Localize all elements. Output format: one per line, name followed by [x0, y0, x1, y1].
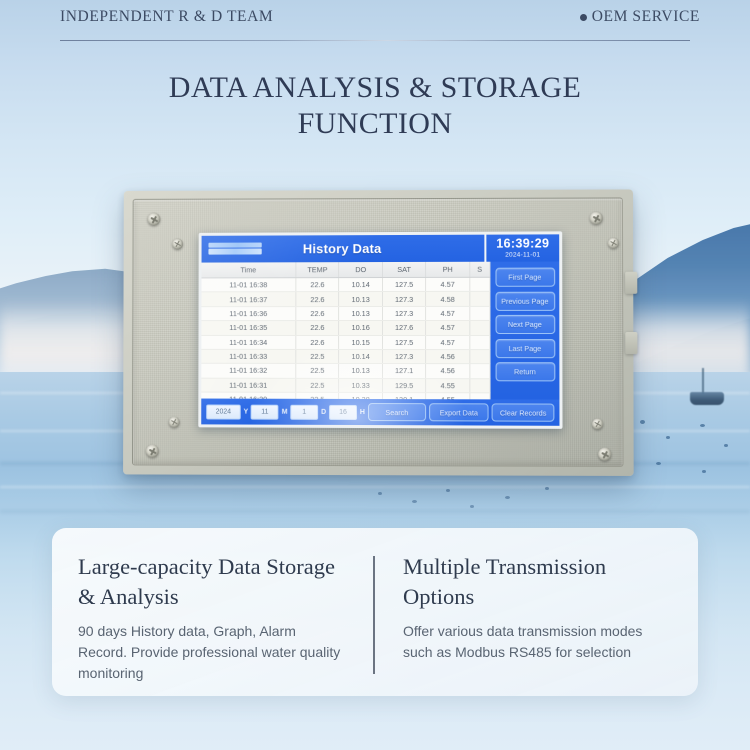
screw-icon	[147, 213, 160, 226]
search-button[interactable]: Search	[368, 403, 426, 421]
table-cell: 22.5	[296, 378, 339, 392]
history-data-table: TimeTEMPDOSATPHS 11-01 16:3822.610.14127…	[201, 262, 490, 400]
table-column-header: SAT	[382, 262, 425, 278]
table-cell: 10.15	[339, 335, 382, 349]
table-header-row: TimeTEMPDOSATPHS	[202, 262, 490, 278]
table-cell: 10.13	[339, 292, 382, 306]
table-column-header: TEMP	[296, 262, 339, 278]
bird-icon	[666, 436, 670, 439]
header-divider	[60, 40, 690, 41]
table-cell: 11-01 16:36	[201, 306, 295, 320]
table-cell: 4.57	[426, 277, 470, 291]
page-title-line1: DATA ANALYSIS & STORAGE	[0, 70, 750, 106]
hour-input[interactable]: 16	[329, 404, 357, 419]
boat-icon	[690, 392, 724, 405]
clock-time: 16:39:29	[496, 237, 549, 250]
table-column-header: DO	[339, 262, 382, 278]
feature-card-transmission: Multiple Transmission Options Offer vari…	[375, 528, 698, 696]
table-cell: 4.57	[426, 306, 470, 320]
day-unit-label: D	[321, 408, 326, 415]
table-cell	[470, 378, 490, 392]
table-cell: 4.58	[426, 292, 470, 306]
table-cell	[470, 335, 490, 349]
history-table-wrapper[interactable]: TimeTEMPDOSATPHS 11-01 16:3822.610.14127…	[201, 262, 490, 400]
lcd-screen: History Data 16:39:29 2024-11-01 TimeTEM…	[198, 231, 562, 429]
month-unit-label: M	[282, 408, 288, 415]
table-cell: 127.5	[382, 277, 425, 291]
table-cell: 11-01 16:37	[201, 292, 295, 306]
page-header: INDEPENDENT R & D TEAM OEM SERVICE	[0, 0, 750, 48]
table-cell: 4.57	[426, 335, 470, 349]
year-unit-label: Y	[244, 408, 249, 415]
nav-button-last-page[interactable]: Last Page	[495, 339, 555, 358]
table-row[interactable]: 11-01 16:3522.610.16127.64.57	[201, 321, 490, 335]
hour-unit-label: H	[360, 408, 365, 415]
screw-icon	[172, 238, 183, 249]
table-cell: 4.57	[426, 321, 470, 335]
lumineers-brand-logo	[208, 241, 261, 257]
page-title-line2: FUNCTION	[0, 106, 750, 142]
table-cell: 11-01 16:31	[201, 378, 296, 393]
feature-card-title: Large-capacity Data Storage & Analysis	[78, 552, 347, 612]
lcd-title-bar: History Data	[202, 235, 487, 263]
feature-card-title: Multiple Transmission Options	[403, 552, 672, 612]
side-connector-tab	[625, 332, 637, 354]
table-row[interactable]: 11-01 16:3822.610.14127.54.57	[201, 277, 489, 292]
lcd-clock: 16:39:29 2024-11-01	[486, 234, 559, 261]
screw-icon	[590, 212, 603, 225]
table-cell	[470, 306, 490, 320]
table-cell: 10.16	[339, 321, 382, 335]
table-cell: 127.6	[382, 321, 426, 335]
table-cell: 4.55	[426, 378, 470, 393]
screw-icon	[598, 448, 611, 461]
table-cell: 4.56	[426, 364, 470, 379]
table-column-header: Time	[202, 262, 296, 278]
bird-icon	[640, 420, 645, 424]
table-cell: 4.56	[426, 349, 470, 363]
boat-mast	[702, 368, 704, 394]
table-cell: 11-01 16:34	[201, 335, 295, 349]
bird-icon	[700, 424, 705, 427]
table-cell: 10.33	[339, 378, 382, 392]
table-cell	[470, 349, 490, 363]
screw-icon	[592, 418, 603, 429]
feature-card-body: Offer various data transmission modes su…	[403, 621, 672, 663]
table-column-header: PH	[426, 262, 470, 278]
screw-icon	[608, 238, 619, 249]
feature-card-body: 90 days History data, Graph, Alarm Recor…	[78, 621, 347, 684]
year-input[interactable]: 2024	[206, 404, 240, 419]
lcd-body: TimeTEMPDOSATPHS 11-01 16:3822.610.14127…	[201, 262, 559, 400]
table-cell	[470, 292, 490, 306]
table-row[interactable]: 11-01 16:3422.610.15127.54.57	[201, 335, 490, 349]
screw-icon	[146, 445, 159, 458]
table-row[interactable]: 11-01 16:3122.510.33129.54.55	[201, 378, 490, 393]
table-cell: 22.6	[296, 321, 339, 335]
table-cell: 10.13	[339, 364, 382, 378]
clock-date: 2024-11-01	[505, 250, 540, 259]
bullet-dot-icon	[580, 14, 587, 21]
bird-icon	[656, 462, 661, 465]
lcd-toolbar: 2024 Y 11 M 1 D 16 H Search Export Data …	[201, 399, 559, 426]
feature-cards-panel: Large-capacity Data Storage & Analysis 9…	[52, 528, 698, 696]
table-row[interactable]: 11-01 16:3722.610.13127.34.58	[201, 292, 490, 307]
table-cell: 22.6	[296, 335, 339, 349]
table-cell: 127.3	[382, 292, 425, 306]
table-row[interactable]: 11-01 16:3322.510.14127.34.56	[201, 349, 490, 364]
month-input[interactable]: 11	[251, 404, 279, 419]
table-cell: 22.6	[296, 306, 339, 320]
nav-button-first-page[interactable]: First Page	[495, 268, 555, 287]
table-cell: 10.13	[339, 306, 382, 320]
table-cell: 10.14	[339, 349, 382, 363]
nav-button-return[interactable]: Return	[495, 362, 555, 381]
nav-button-next-page[interactable]: Next Page	[495, 315, 555, 334]
table-cell: 127.1	[382, 364, 426, 378]
table-cell: 10.14	[339, 278, 382, 292]
lcd-header: History Data 16:39:29 2024-11-01	[202, 234, 560, 262]
table-cell: 11-01 16:38	[201, 278, 295, 292]
table-column-header: S	[469, 262, 489, 278]
day-input[interactable]: 1	[290, 404, 318, 419]
side-connector-tab	[625, 272, 637, 294]
table-cell: 127.3	[382, 349, 426, 363]
feature-card-storage: Large-capacity Data Storage & Analysis 9…	[52, 528, 373, 696]
table-cell: 22.6	[296, 292, 339, 306]
table-cell	[470, 277, 490, 291]
header-left-text: INDEPENDENT R & D TEAM	[60, 8, 273, 26]
screw-icon	[169, 417, 180, 428]
table-cell: 129.5	[382, 378, 426, 393]
export-data-button[interactable]: Export Data	[429, 403, 489, 421]
table-cell	[470, 321, 490, 335]
table-cell: 127.5	[382, 335, 426, 349]
table-cell: 11-01 16:35	[201, 321, 295, 335]
table-cell: 127.3	[382, 306, 425, 320]
controller-device: History Data 16:39:29 2024-11-01 TimeTEM…	[122, 190, 632, 475]
table-row[interactable]: 11-01 16:3222.510.13127.14.56	[201, 364, 490, 379]
table-row[interactable]: 11-01 16:3622.610.13127.34.57	[201, 306, 490, 321]
table-cell: 22.6	[296, 278, 339, 292]
device-housing: History Data 16:39:29 2024-11-01 TimeTEM…	[123, 189, 634, 476]
bird-icon	[724, 444, 728, 447]
header-right-group: OEM SERVICE	[580, 8, 700, 26]
clear-records-button[interactable]: Clear Records	[492, 403, 554, 421]
table-cell	[470, 364, 490, 378]
table-cell: 11-01 16:33	[201, 349, 295, 363]
header-right-text: OEM SERVICE	[592, 8, 700, 26]
table-cell: 22.5	[296, 364, 339, 378]
nav-button-previous-page[interactable]: Previous Page	[495, 291, 555, 310]
pagination-button-panel: First PagePrevious PageNext PageLast Pag…	[490, 262, 559, 400]
table-cell: 22.5	[296, 349, 339, 363]
page-title: DATA ANALYSIS & STORAGE FUNCTION	[0, 70, 750, 142]
table-cell: 11-01 16:32	[201, 364, 295, 378]
